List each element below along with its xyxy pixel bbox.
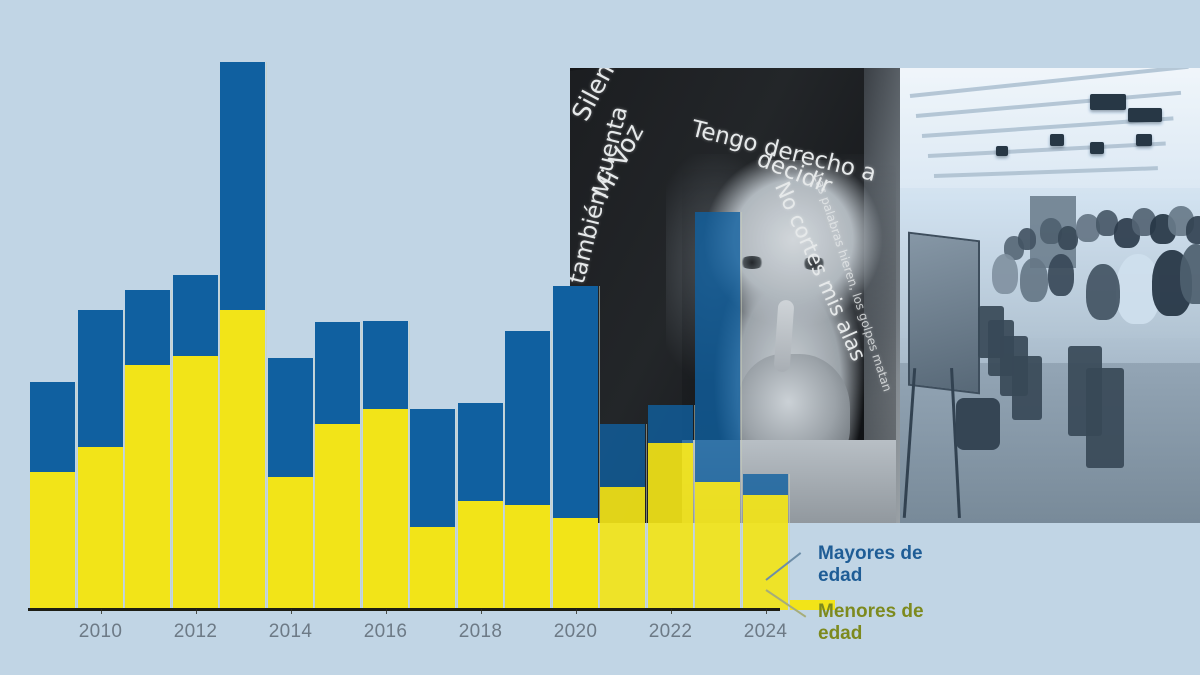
bar-2023: [695, 212, 740, 610]
bar-segment-mayores-2021: [600, 424, 645, 487]
bar-2011: [125, 290, 170, 610]
bar-segment-menores-2024: [743, 495, 788, 610]
legend-mayores-line2: edad: [818, 565, 923, 587]
bar-segment-mayores-2019: [505, 331, 550, 505]
bar-2010: [78, 310, 123, 610]
bar-segment-mayores-2010: [78, 310, 123, 447]
legend-menores-line1: Menores de: [818, 601, 924, 623]
legend-item-mayores: Mayores de edad: [818, 543, 923, 588]
bar-segment-mayores-2022: [648, 405, 693, 443]
bar-separator-2013: [266, 62, 267, 610]
bar-separator-2015: [361, 322, 362, 610]
bar-segment-mayores-2009: [30, 382, 75, 472]
bar-2018: [458, 403, 503, 610]
bar-segment-menores-2013: [220, 310, 265, 610]
x-tick-2022: [671, 609, 672, 614]
bar-segment-menores-2017: [410, 527, 455, 610]
x-tick-2024: [766, 609, 767, 614]
bar-segment-mayores-2024: [743, 474, 788, 495]
bar-2014: [268, 358, 313, 610]
bar-segment-menores-2015: [315, 424, 360, 610]
bar-separator-2017: [456, 409, 457, 610]
x-label-2012: 2012: [174, 621, 217, 643]
bar-segment-menores-2023: [695, 482, 740, 610]
bar-2022: [648, 405, 693, 610]
bar-segment-mayores-2011: [125, 290, 170, 365]
bar-segment-mayores-2023: [695, 212, 740, 482]
x-tick-2014: [291, 609, 292, 614]
bar-segment-menores-2011: [125, 365, 170, 610]
x-label-2010: 2010: [79, 621, 122, 643]
bar-segment-mayores-2018: [458, 403, 503, 501]
x-tick-2018: [481, 609, 482, 614]
bar-segment-mayores-2020: [553, 286, 598, 518]
bar-2017: [410, 409, 455, 610]
x-axis-line: [28, 608, 780, 611]
legend-menores-line2: edad: [818, 623, 924, 645]
x-label-2024: 2024: [744, 621, 787, 643]
x-label-2014: 2014: [269, 621, 312, 643]
bar-2015: [315, 322, 360, 610]
bar-2019: [505, 331, 550, 610]
bar-separator-2011: [171, 290, 172, 610]
bar-segment-menores-2022: [648, 443, 693, 610]
x-label-2016: 2016: [364, 621, 407, 643]
x-label-2022: 2022: [649, 621, 692, 643]
bar-segment-menores-2010: [78, 447, 123, 610]
infographic-canvas: Silencies Mi Voz Tengo derecho a decidir…: [0, 0, 1200, 675]
bar-segment-menores-2020: [553, 518, 598, 610]
bar-segment-menores-2012: [173, 356, 218, 610]
legend-item-menores: Menores de edad: [818, 601, 924, 646]
bar-segment-menores-2021: [600, 487, 645, 610]
legend-mayores-line1: Mayores de: [818, 543, 923, 565]
bar-segment-menores-2009: [30, 472, 75, 610]
x-tick-2020: [576, 609, 577, 614]
bar-segment-menores-2016: [363, 409, 408, 610]
chart-legend: Mayores de edad Menores de edad: [790, 543, 1020, 653]
bar-segment-mayores-2016: [363, 321, 408, 409]
bar-segment-menores-2014: [268, 477, 313, 610]
x-tick-2010: [101, 609, 102, 614]
bar-separator-2009: [76, 382, 77, 610]
bar-segment-mayores-2014: [268, 358, 313, 477]
bar-separator-2023: [741, 212, 742, 610]
bar-segment-menores-2019: [505, 505, 550, 610]
bar-segment-mayores-2017: [410, 409, 455, 527]
bar-2021: [600, 424, 645, 610]
x-tick-2016: [386, 609, 387, 614]
x-label-2018: 2018: [459, 621, 502, 643]
bar-separator-2021: [646, 424, 647, 610]
bar-2009: [30, 382, 75, 610]
bar-2012: [173, 275, 218, 610]
bar-2016: [363, 321, 408, 610]
bar-separator-2019: [551, 331, 552, 610]
bar-segment-menores-2018: [458, 501, 503, 610]
bar-2013: [220, 62, 265, 610]
stacked-bar-chart: 20102012201420162018202020222024: [0, 0, 1200, 675]
x-label-2020: 2020: [554, 621, 597, 643]
bar-segment-mayores-2013: [220, 62, 265, 310]
bar-segment-mayores-2015: [315, 322, 360, 424]
bar-2020: [553, 286, 598, 610]
bar-segment-mayores-2012: [173, 275, 218, 356]
x-tick-2012: [196, 609, 197, 614]
